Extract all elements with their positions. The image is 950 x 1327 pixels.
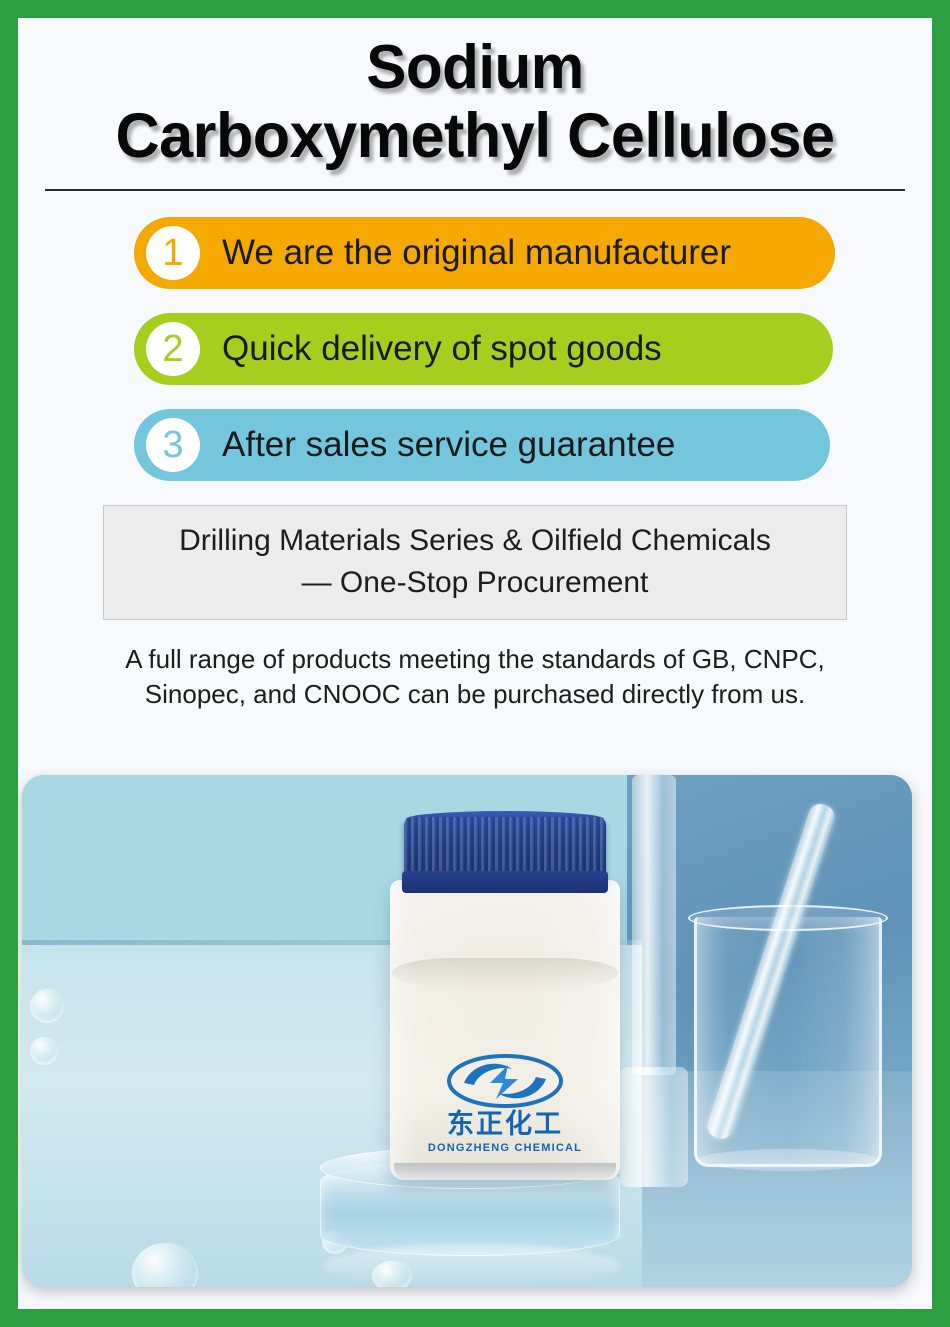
- supporting-paragraph-line-1: A full range of products meeting the sta…: [80, 642, 870, 676]
- title-line-1: Sodium: [32, 34, 919, 102]
- feature-number-badge-1: 1: [146, 226, 200, 280]
- jar-cap-band: [402, 871, 608, 893]
- feature-number-badge-2: 2: [146, 322, 200, 376]
- feature-label-3: After sales service guarantee: [222, 425, 675, 465]
- feature-list: 1 We are the original manufacturer 2 Qui…: [18, 217, 932, 481]
- water-droplet-icon: [30, 989, 64, 1023]
- title-line-2: Carboxymethyl Cellulose: [32, 102, 919, 171]
- feature-item-1[interactable]: 1 We are the original manufacturer: [134, 217, 835, 289]
- water-droplet-icon: [30, 1037, 58, 1065]
- tagline-box: Drilling Materials Series & Oilfield Che…: [103, 505, 847, 620]
- surface-reflection: [322, 1245, 622, 1287]
- title-divider: [45, 189, 905, 191]
- supporting-paragraph-line-2: Sinopec, and CNOOC can be purchased dire…: [80, 677, 870, 711]
- tagline-line-1: Drilling Materials Series & Oilfield Che…: [114, 520, 836, 561]
- glass-cylinder: [632, 775, 676, 1075]
- powder-fill-line: [392, 958, 618, 988]
- feature-item-3[interactable]: 3 After sales service guarantee: [134, 409, 830, 481]
- brand-logo: 东正化工 DONGZHENG CHEMICAL: [420, 1053, 590, 1165]
- poster-canvas: Sodium Carboxymethyl Cellulose 1 We are …: [18, 18, 932, 1309]
- glass-cylinder-base: [620, 1067, 688, 1187]
- photo-background: 东正化工 DONGZHENG CHEMICAL: [22, 775, 912, 1287]
- feature-label-1: We are the original manufacturer: [222, 233, 731, 273]
- product-photo: 东正化工 DONGZHENG CHEMICAL: [22, 775, 912, 1287]
- page-title: Sodium Carboxymethyl Cellulose: [18, 18, 932, 191]
- jar-base: [394, 1163, 616, 1179]
- brand-name-en: DONGZHENG CHEMICAL: [420, 1143, 590, 1154]
- feature-label-2: Quick delivery of spot goods: [222, 329, 662, 369]
- supporting-paragraph: A full range of products meeting the sta…: [80, 642, 870, 711]
- tagline-line-2: — One-Stop Procurement: [114, 562, 836, 603]
- brand-name-cn: 东正化工: [420, 1111, 590, 1138]
- feature-item-2[interactable]: 2 Quick delivery of spot goods: [134, 313, 833, 385]
- feature-number-badge-3: 3: [146, 418, 200, 472]
- beaker-bottom: [698, 1149, 878, 1171]
- dongzheng-swoosh-icon: [446, 1053, 564, 1109]
